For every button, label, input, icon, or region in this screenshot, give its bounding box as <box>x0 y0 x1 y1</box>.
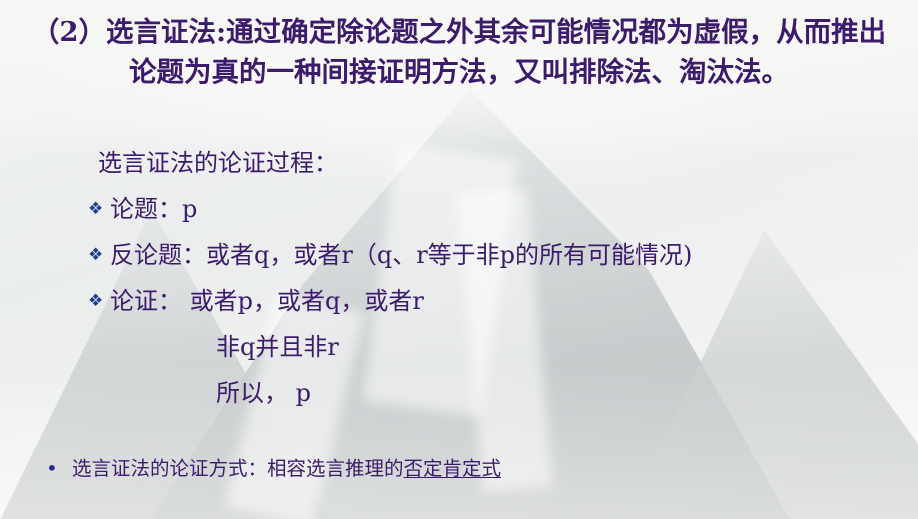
bullet-dot-icon: • <box>40 456 72 480</box>
footer-note: • 选言证法的论证方式：相容选言推理的否定肯定式 <box>40 452 900 481</box>
continuation-line-2: 所以， p <box>88 370 898 416</box>
diamond-bullet-icon: ❖ <box>88 186 110 232</box>
continuation-line-1: 非q并且非r <box>88 324 898 370</box>
diamond-bullet-icon: ❖ <box>88 278 110 324</box>
intro-line: 选言证法的论证过程： <box>88 140 898 186</box>
list-item: ❖ 反论题：或者q，或者r（q、r等于非p的所有可能情况) <box>88 232 898 278</box>
footer-text-plain: 选言证法的论证方式：相容选言推理的 <box>72 457 404 480</box>
list-item: ❖ 论题：p <box>88 186 898 232</box>
list-item-label: 反论题：或者q，或者r（q、r等于非p的所有可能情况) <box>110 232 692 278</box>
slide: （2）选言证法:通过确定除论题之外其余可能情况都为虚假，从而推出论题为真的一种间… <box>0 0 918 519</box>
list-item-label: 论题：p <box>110 186 197 232</box>
list-item: ❖ 论证： 或者p，或者q，或者r <box>88 278 898 324</box>
diamond-bullet-icon: ❖ <box>88 232 110 278</box>
footer-text-underlined: 否定肯定式 <box>404 457 502 480</box>
slide-content: （2）选言证法:通过确定除论题之外其余可能情况都为虚假，从而推出论题为真的一种间… <box>0 0 918 519</box>
footer-text: 选言证法的论证方式：相容选言推理的否定肯定式 <box>72 452 501 481</box>
slide-title: （2）选言证法:通过确定除论题之外其余可能情况都为虚假，从而推出论题为真的一种间… <box>26 12 892 92</box>
list-item-label: 论证： 或者p，或者q，或者r <box>110 278 424 324</box>
body-block: 选言证法的论证过程： ❖ 论题：p ❖ 反论题：或者q，或者r（q、r等于非p的… <box>88 140 898 416</box>
